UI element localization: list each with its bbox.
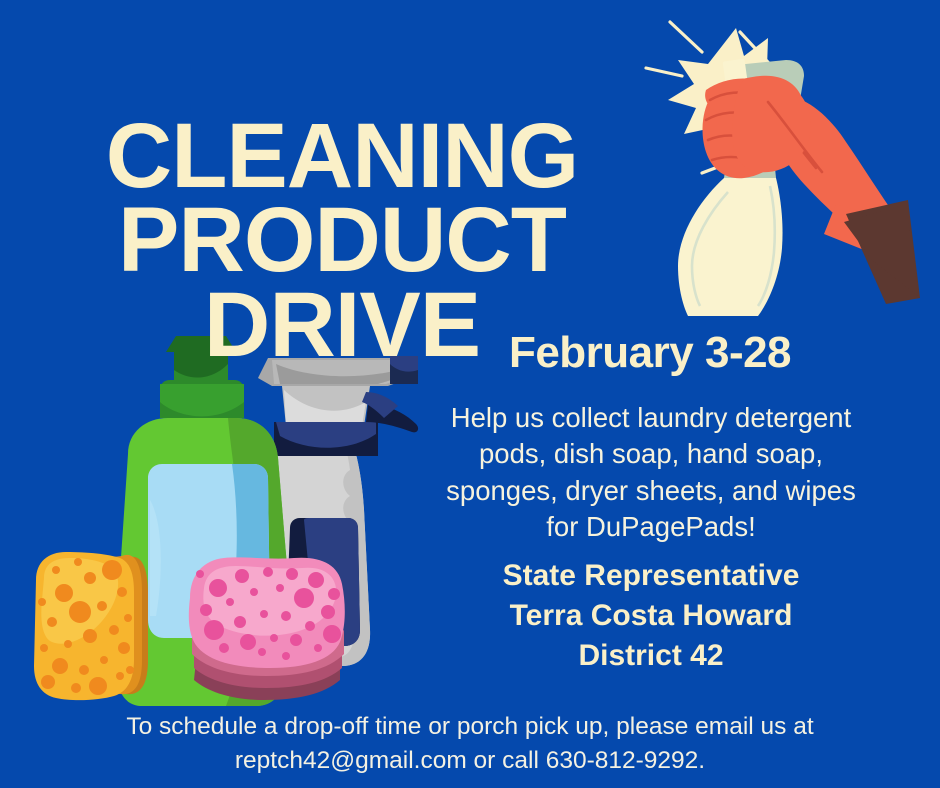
dish-soap-bottle-product [115,336,291,706]
event-date: February 3-28 [420,330,880,376]
spray-burst-icon [646,22,805,173]
description-line-3: sponges, dryer sheets, and wipes [418,473,884,509]
spray-nozzle-tip [723,59,748,84]
spray-bottle-neck [724,108,776,178]
sponge-holes [196,567,341,660]
representative-title: State Representative [440,556,862,596]
cleaning-products-illustration [18,330,438,712]
description-line-1: Help us collect laundry detergent [418,400,884,436]
contact-line-1: To schedule a drop-off time or porch pic… [70,710,870,744]
hand-holding-spray-bottle-illustration [640,8,940,320]
donation-description: Help us collect laundry detergent pods, … [418,400,884,545]
sleeve-cuff [846,200,920,304]
finger-creases [706,93,816,168]
sponge-holes [38,558,134,695]
thumb-shadow [735,81,773,116]
representative-info: State Representative Terra Costa Howard … [440,556,862,676]
bottle-outline [692,192,728,306]
contact-line-2: reptch42@gmail.com or call 630-812-9292. [70,744,870,778]
spray-bottle-head [725,60,804,112]
description-line-2: pods, dish soap, hand soap, [418,436,884,472]
representative-name: Terra Costa Howard [440,596,862,636]
thumb-crease [768,102,822,172]
forearm [766,93,902,254]
poster-canvas: CLEANING PRODUCT DRIVE February 3-28 Hel… [0,0,940,788]
headline-line-1: CLEANING [62,114,622,199]
headline-line-2: PRODUCT [62,198,622,283]
forearm-lower [824,204,902,258]
fist [703,76,805,179]
representative-district: District 42 [440,636,862,676]
spray-bottle-product [256,356,418,666]
description-line-4: for DuPagePads! [418,509,884,545]
yellow-sponge-product [34,552,148,700]
contact-instructions: To schedule a drop-off time or porch pic… [70,710,870,778]
pink-sponge-product [189,557,345,700]
finger-1 [705,78,771,117]
sleeve-cuff-2 [844,204,918,296]
spray-bottle-body [678,178,783,316]
fist-front [732,77,811,172]
bottle-outline-right [758,186,775,306]
